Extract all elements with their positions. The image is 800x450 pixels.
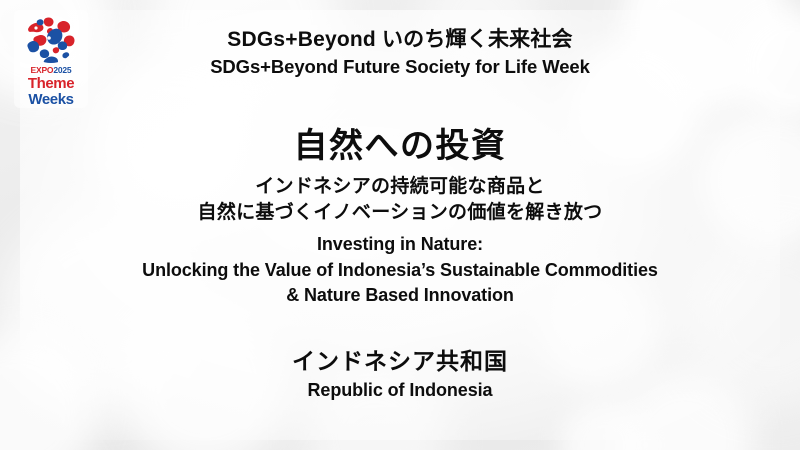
subtitle-japanese-line-1: インドネシアの持続可能な商品と: [0, 174, 800, 200]
country-name-japanese: インドネシア共和国: [0, 348, 800, 376]
slide-content: SDGs+Beyond いのち輝く未来社会 SDGs+Beyond Future…: [0, 0, 800, 450]
subtitle-japanese-line-2: 自然に基づくイノベーションの価値を解き放つ: [0, 200, 800, 226]
event-header-english: SDGs+Beyond Future Society for Life Week: [0, 56, 800, 78]
event-header: SDGs+Beyond いのち輝く未来社会 SDGs+Beyond Future…: [0, 28, 800, 78]
presenter-country: インドネシア共和国 Republic of Indonesia: [0, 348, 800, 401]
event-header-japanese: SDGs+Beyond いのち輝く未来社会: [0, 28, 800, 53]
subtitle-english-line-2: Unlocking the Value of Indonesia’s Susta…: [0, 258, 800, 284]
subtitle-japanese: インドネシアの持続可能な商品と 自然に基づくイノベーションの価値を解き放つ: [0, 174, 800, 225]
country-name-english: Republic of Indonesia: [0, 380, 800, 402]
page-title: 自然への投資: [0, 128, 800, 165]
presentation-slide: EXPO2025 Theme Weeks SDGs+Beyond いのち輝く未来…: [0, 0, 800, 450]
subtitle-english-line-3: & Nature Based Innovation: [0, 283, 800, 309]
subtitle-english: Investing in Nature: Unlocking the Value…: [0, 232, 800, 309]
subtitle-english-line-1: Investing in Nature:: [0, 232, 800, 258]
